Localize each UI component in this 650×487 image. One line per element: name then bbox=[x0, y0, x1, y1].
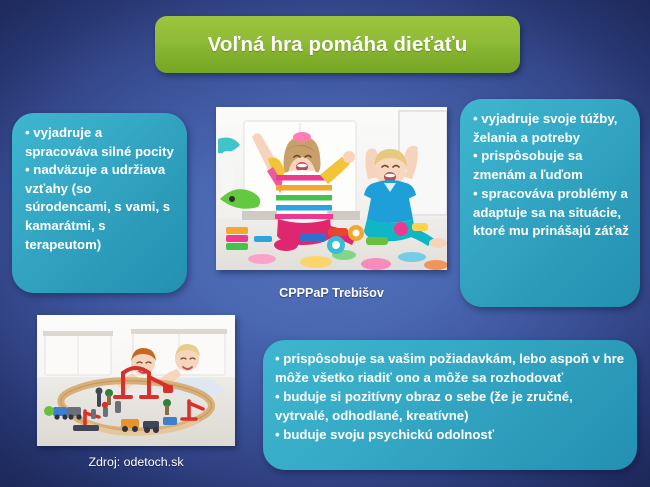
bullet-item: • prispôsobuje sa zmenám a ľuďom bbox=[473, 147, 630, 184]
callout-bottom: • prispôsobuje sa vašim požiadavkám, leb… bbox=[263, 340, 637, 470]
bullet-item: • vyjadruje a spracováva silné pocity bbox=[25, 124, 177, 161]
photo-top-caption: CPPPaP Trebišov bbox=[216, 286, 447, 300]
callout-right: • vyjadruje svoje túžby, želania a potre… bbox=[460, 99, 640, 307]
bullet-item: • buduje si pozitívny obraz o sebe (že j… bbox=[275, 387, 625, 425]
bullet-item: • spracováva problémy a adaptuje sa na s… bbox=[473, 185, 630, 241]
bullet-item: • prispôsobuje sa vašim požiadavkám, leb… bbox=[275, 349, 625, 387]
page-title: Voľná hra pomáha dieťaťu bbox=[208, 33, 468, 57]
children-train-set-illustration bbox=[37, 315, 235, 446]
callout-left: • vyjadruje a spracováva silné pocity • … bbox=[12, 113, 187, 293]
slide-title-banner: Voľná hra pomáha dieťaťu bbox=[155, 16, 520, 73]
children-cheering-illustration bbox=[216, 107, 447, 270]
bullet-item: • vyjadruje svoje túžby, želania a potre… bbox=[473, 110, 630, 147]
bullet-item: • buduje svoju psychickú odolnosť bbox=[275, 425, 625, 444]
bullet-item: • nadväzuje a udržiava vzťahy (so súrode… bbox=[25, 161, 177, 254]
photo-children-train-set bbox=[37, 315, 235, 446]
photo-bottom-caption: Zdroj: odetoch.sk bbox=[37, 455, 235, 469]
presentation-slide: Voľná hra pomáha dieťaťu • vyjadruje a s… bbox=[0, 0, 650, 487]
photo-children-cheering bbox=[216, 107, 447, 270]
